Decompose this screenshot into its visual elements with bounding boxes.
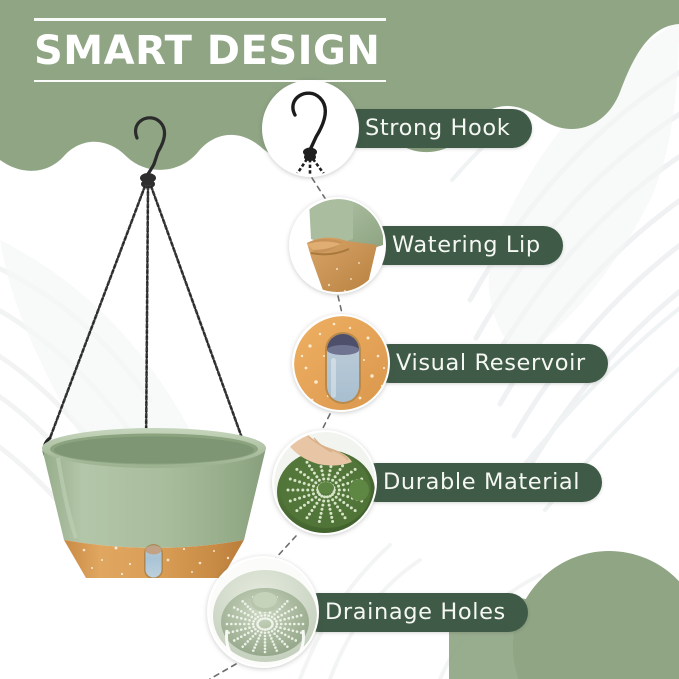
- feature-label: Strong Hook: [365, 109, 510, 148]
- infographic-canvas: SMART DESIGN: [0, 0, 679, 679]
- feature-label-pill: Strong Hook: [339, 109, 532, 148]
- feature-durable-material[interactable]: Durable Material: [272, 430, 602, 535]
- feature-label: Durable Material: [383, 463, 580, 502]
- hook-icon: [262, 80, 359, 177]
- page-title: SMART DESIGN: [34, 27, 386, 75]
- feature-label: Watering Lip: [392, 226, 541, 265]
- watering-lip-icon: [289, 197, 386, 294]
- feature-label: Visual Reservoir: [396, 344, 586, 383]
- page-title-block: SMART DESIGN: [34, 18, 386, 82]
- reservoir-gauge-icon: [292, 314, 390, 412]
- feature-label-pill: Visual Reservoir: [370, 344, 608, 383]
- feature-label-pill: Durable Material: [357, 463, 602, 502]
- feature-label-pill: Drainage Holes: [299, 593, 528, 632]
- feature-visual-reservoir[interactable]: Visual Reservoir: [292, 314, 608, 412]
- title-rule-bottom: [34, 80, 386, 83]
- feature-strong-hook[interactable]: Strong Hook: [262, 80, 532, 177]
- hand-press-icon: [272, 430, 377, 535]
- drainage-disc-icon: [207, 556, 319, 668]
- feature-label-pill: Watering Lip: [366, 226, 563, 265]
- hanging-planter-product: [18, 108, 290, 578]
- title-rule-top: [34, 18, 386, 21]
- feature-label: Drainage Holes: [325, 593, 506, 632]
- feature-watering-lip[interactable]: Watering Lip: [289, 197, 563, 294]
